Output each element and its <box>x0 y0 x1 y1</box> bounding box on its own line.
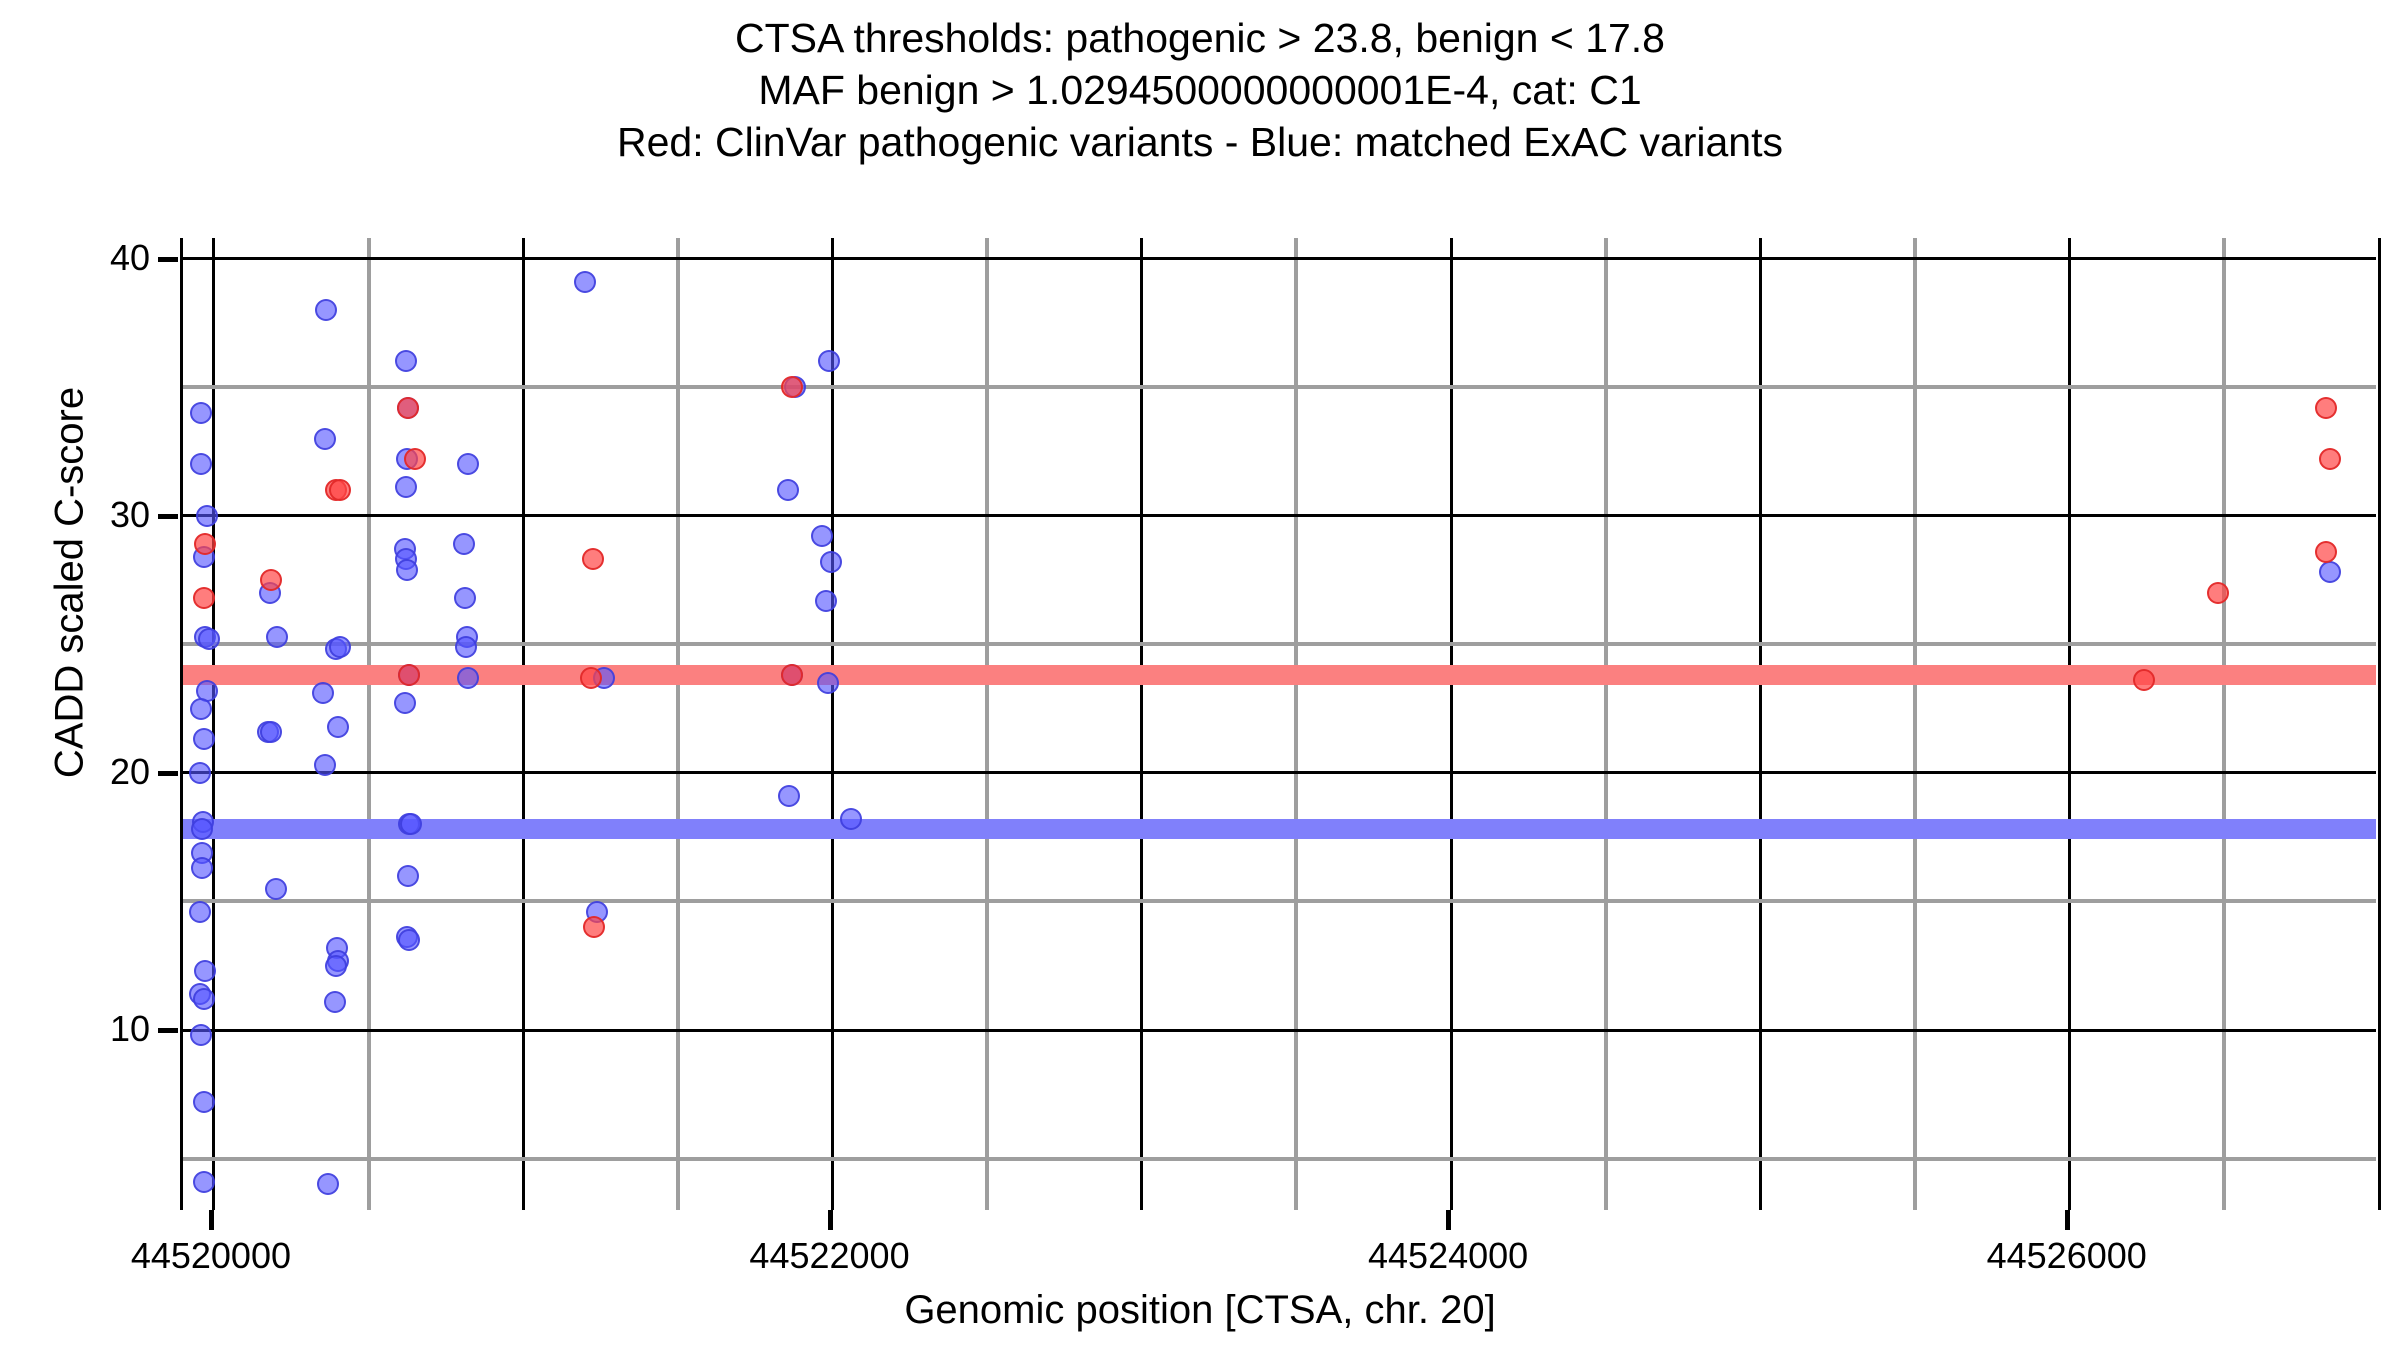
data-point <box>329 636 351 658</box>
data-point <box>398 929 420 951</box>
data-point <box>194 960 216 982</box>
data-point <box>260 569 282 591</box>
data-point <box>191 857 213 879</box>
data-point <box>394 692 416 714</box>
x-tick-mark <box>209 1210 214 1230</box>
data-point <box>260 721 282 743</box>
x-tick-mark <box>828 1210 833 1230</box>
data-point <box>2319 561 2341 583</box>
gridline-vertical <box>1759 238 1762 1210</box>
gridline-vertical <box>367 238 371 1210</box>
data-point <box>395 350 417 372</box>
x-tick-mark <box>2065 1210 2070 1230</box>
data-point <box>327 716 349 738</box>
gridline-horizontal <box>183 771 2376 774</box>
data-point <box>2133 669 2155 691</box>
data-point <box>396 559 418 581</box>
data-point <box>820 551 842 573</box>
data-point <box>190 402 212 424</box>
data-point <box>324 991 346 1013</box>
data-point <box>2207 582 2229 604</box>
data-point <box>2315 541 2337 563</box>
x-tick-mark <box>1446 1210 1451 1230</box>
data-point <box>580 667 602 689</box>
data-point <box>193 1171 215 1193</box>
data-point <box>193 728 215 750</box>
data-point <box>314 428 336 450</box>
data-point <box>777 479 799 501</box>
x-tick-label: 44520000 <box>61 1238 361 1274</box>
data-point <box>397 865 419 887</box>
data-point <box>196 505 218 527</box>
gridline-horizontal <box>183 257 2376 260</box>
gridline-vertical <box>1913 238 1917 1210</box>
scatter-plot-figure: CTSA thresholds: pathogenic > 23.8, beni… <box>0 0 2400 1350</box>
data-point <box>315 299 337 321</box>
gridline-horizontal <box>183 899 2376 903</box>
data-point <box>457 453 479 475</box>
data-point <box>189 762 211 784</box>
data-point <box>397 397 419 419</box>
data-point <box>189 901 211 923</box>
data-point <box>582 548 604 570</box>
gridline-vertical <box>2068 238 2071 1210</box>
data-point <box>190 698 212 720</box>
data-point <box>811 525 833 547</box>
data-point <box>329 479 351 501</box>
data-point <box>312 682 334 704</box>
data-point <box>404 448 426 470</box>
data-point <box>317 1173 339 1195</box>
data-point <box>453 533 475 555</box>
gridline-horizontal <box>183 1029 2376 1032</box>
gridline-vertical <box>1450 238 1453 1210</box>
data-point <box>818 350 840 372</box>
data-point <box>457 667 479 689</box>
x-tick-label: 44524000 <box>1298 1238 1598 1274</box>
data-point <box>266 626 288 648</box>
data-point <box>2319 448 2341 470</box>
gridline-horizontal <box>183 385 2376 389</box>
data-point <box>193 587 215 609</box>
y-axis-label: CADD scaled C-score <box>48 203 93 963</box>
x-tick-label: 44526000 <box>1917 1238 2217 1274</box>
gridline-vertical <box>831 238 834 1210</box>
data-point <box>325 955 347 977</box>
gridline-vertical <box>1604 238 1608 1210</box>
data-point <box>190 1024 212 1046</box>
data-point <box>817 672 839 694</box>
data-point <box>198 628 220 650</box>
x-tick-label: 44522000 <box>680 1238 980 1274</box>
data-point <box>455 636 477 658</box>
gridline-vertical <box>676 238 680 1210</box>
gridline-vertical <box>985 238 989 1210</box>
plot-area <box>180 238 2376 1210</box>
gridline-vertical <box>2378 238 2381 1210</box>
data-point <box>193 1091 215 1113</box>
gridline-horizontal <box>183 514 2376 517</box>
data-point <box>778 785 800 807</box>
gridline-vertical <box>212 238 215 1210</box>
gridline-vertical <box>522 238 525 1210</box>
gridline-vertical <box>2222 238 2226 1210</box>
data-point <box>583 916 605 938</box>
benign-threshold-band <box>183 819 2376 839</box>
data-point <box>395 476 417 498</box>
data-point <box>2315 397 2337 419</box>
gridline-vertical <box>1294 238 1298 1210</box>
gridline-horizontal <box>183 1157 2376 1161</box>
gridline-horizontal <box>183 642 2376 646</box>
gridline-vertical <box>1140 238 1143 1210</box>
x-axis-label: Genomic position [CTSA, chr. 20] <box>0 1288 2400 1333</box>
data-point <box>190 453 212 475</box>
data-point <box>454 587 476 609</box>
data-point <box>815 590 837 612</box>
pathogenic-threshold-band <box>183 665 2376 685</box>
data-point <box>574 271 596 293</box>
data-point <box>265 878 287 900</box>
